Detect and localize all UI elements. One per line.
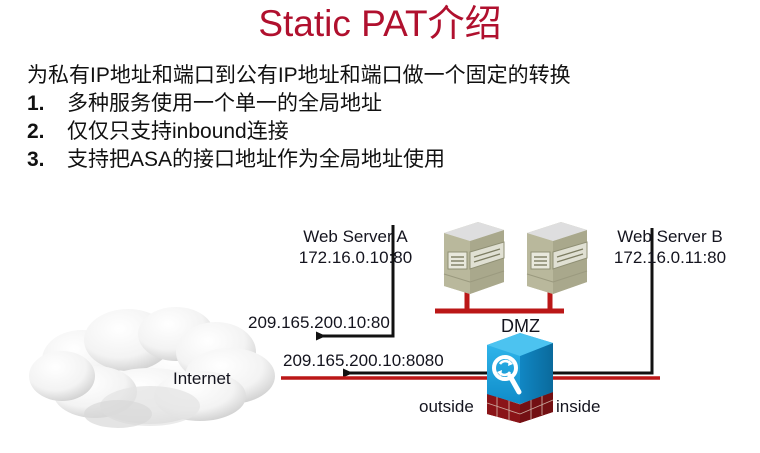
list-item-number: 3. (27, 146, 67, 174)
server-a-address: 172.16.0.10:80 (283, 247, 428, 268)
network-diagram: Web Server A 172.16.0.10:80 Web Server B… (0, 200, 760, 453)
internet-cloud-icon (29, 307, 275, 428)
list-item-number: 2. (27, 118, 67, 146)
translated-address-8080: 209.165.200.10:8080 (283, 350, 444, 371)
slide-root: Static PAT介绍 为私有IP地址和端口到公有IP地址和端口做一个固定的转… (0, 0, 760, 453)
list-item: 2. 仅仅只支持inbound连接 (27, 118, 747, 146)
web-server-a-icon (444, 222, 504, 294)
dmz-label: DMZ (501, 316, 540, 337)
internet-cloud-label: Internet (173, 368, 231, 389)
server-a-label: Web Server A 172.16.0.10:80 (283, 226, 428, 268)
list-item: 3. 支持把ASA的接口地址作为全局地址使用 (27, 146, 747, 174)
asa-firewall-icon (487, 333, 553, 423)
server-b-label: Web Server B 172.16.0.11:80 (595, 226, 745, 268)
server-a-name: Web Server A (283, 226, 428, 247)
server-b-name: Web Server B (595, 226, 745, 247)
list-item-label: 多种服务使用一个单一的全局地址 (67, 90, 382, 118)
page-title: Static PAT介绍 (0, 2, 760, 46)
outside-interface-label: outside (419, 396, 474, 417)
web-server-b-icon (527, 222, 587, 294)
list-item-number: 1. (27, 90, 67, 118)
list-item: 1. 多种服务使用一个单一的全局地址 (27, 90, 747, 118)
lead-paragraph: 为私有IP地址和端口到公有IP地址和端口做一个固定的转换 (27, 62, 747, 90)
server-b-address: 172.16.0.11:80 (595, 247, 745, 268)
list-item-label: 支持把ASA的接口地址作为全局地址使用 (67, 146, 445, 174)
list-item-label: 仅仅只支持inbound连接 (67, 118, 289, 146)
inside-interface-label: inside (556, 396, 600, 417)
translated-address-80: 209.165.200.10:80 (248, 312, 390, 333)
body-text-block: 为私有IP地址和端口到公有IP地址和端口做一个固定的转换 1. 多种服务使用一个… (27, 62, 747, 174)
